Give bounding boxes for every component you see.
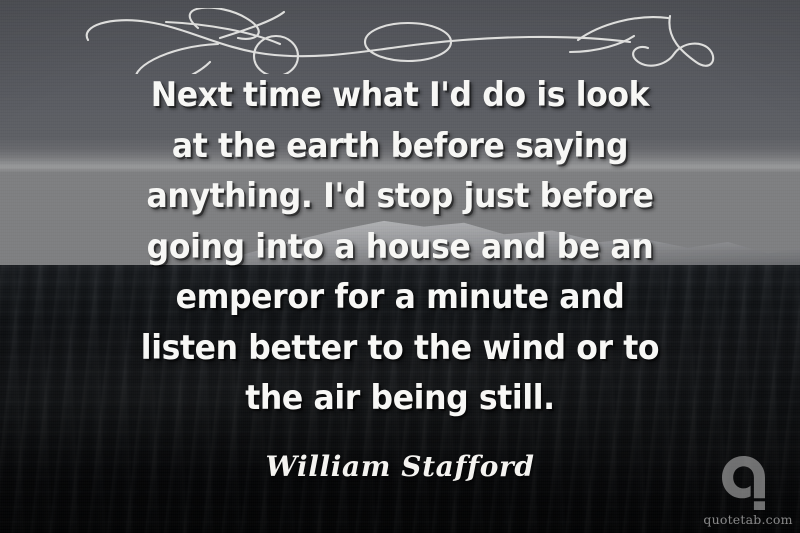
quote-image-card: Next time what I'd do is look at the ear… (0, 0, 800, 533)
quote-author: William Stafford (265, 450, 534, 483)
quote-line: the air being still. (52, 373, 748, 424)
quote-text: Next time what I'd do is look at the ear… (52, 70, 748, 424)
quote-line: Next time what I'd do is look (52, 70, 748, 121)
site-watermark: quotetab.com (704, 455, 792, 527)
quote-line: listen better to the wind or to (52, 323, 748, 374)
quote-line: going into a house and be an (52, 222, 748, 273)
card-content: Next time what I'd do is look at the ear… (0, 0, 800, 533)
quote-line: at the earth before saying (52, 121, 748, 172)
flourish-divider-ornament (70, 8, 730, 74)
quote-line: emperor for a minute and (52, 272, 748, 323)
watermark-site-label: quotetab.com (703, 512, 792, 527)
quotetab-q-logo-icon (721, 455, 775, 511)
quote-line: anything. I'd stop just before (52, 171, 748, 222)
flourish-swirl-icon (70, 8, 730, 74)
